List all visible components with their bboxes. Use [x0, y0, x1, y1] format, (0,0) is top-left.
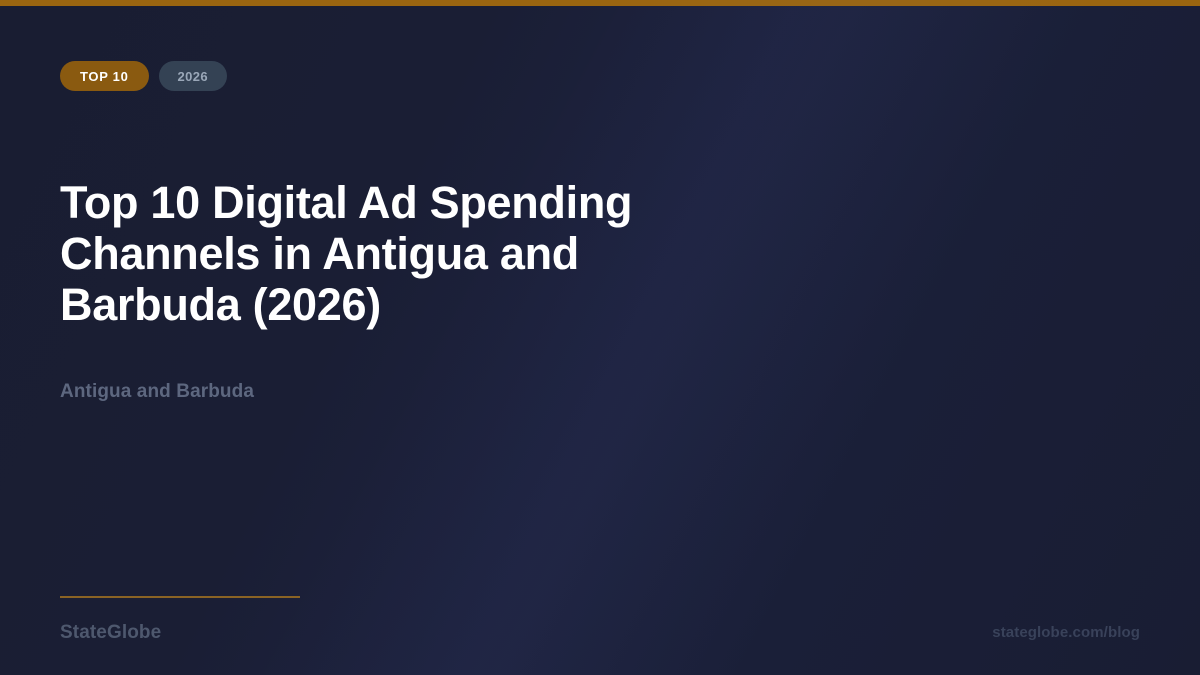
footer-divider — [60, 596, 300, 598]
site-url: stateglobe.com/blog — [992, 624, 1140, 641]
page-title: Top 10 Digital Ad Spending Channels in A… — [60, 177, 700, 330]
rank-badge: TOP 10 — [60, 61, 149, 91]
accent-top-bar — [0, 0, 1200, 6]
slide-canvas: TOP 10 2026 Top 10 Digital Ad Spending C… — [0, 0, 1200, 675]
page-subtitle: Antigua and Barbuda — [60, 381, 254, 403]
brand-name: StateGlobe — [60, 622, 161, 644]
year-badge: 2026 — [159, 61, 228, 91]
background-sheen — [0, 0, 1200, 675]
badge-row: TOP 10 2026 — [60, 61, 227, 91]
